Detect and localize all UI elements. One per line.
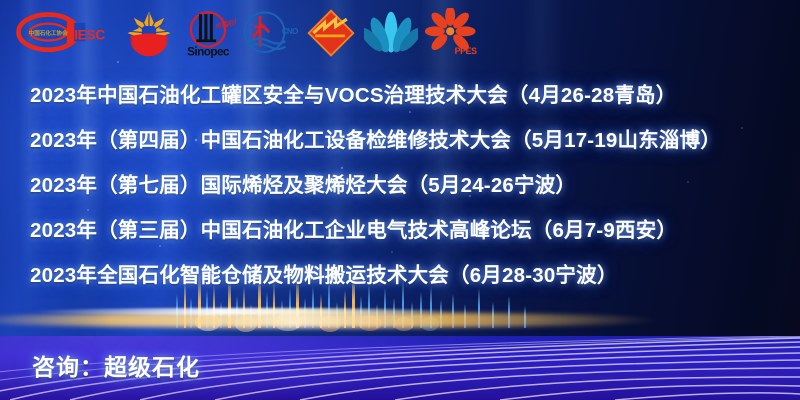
- cnooc-logo: CNOOC: [242, 8, 298, 60]
- horizon-highlight-streak: [30, 308, 450, 315]
- sinopec-logo: 中国石化 Sinopec: [180, 8, 236, 60]
- conference-banner: 中国石化工协会 IESC: [0, 0, 800, 400]
- ppes-logo: PPES: [424, 8, 480, 60]
- svg-text:Sinopec: Sinopec: [187, 46, 230, 59]
- petrochina-logo: [124, 8, 174, 60]
- conference-line-4: 2023年（第三届）中国石油化工企业电气技术高峰论坛（6月7-9西安）: [30, 209, 770, 254]
- contact-caption: 咨询：超级石化: [32, 348, 200, 382]
- svg-text:PPES: PPES: [455, 46, 477, 56]
- conference-line-2: 2023年（第四届）中国石油化工设备检维修技术大会（5月17-19山东淄博）: [30, 119, 770, 164]
- cnbm-petal-logo: [364, 8, 418, 60]
- svg-text:IESC: IESC: [74, 27, 105, 43]
- sponsor-logo-strip: 中国石化工协会 IESC: [10, 6, 430, 62]
- svg-text:中国石化工协会: 中国石化工协会: [29, 29, 68, 37]
- svg-text:中国石化: 中国石化: [215, 16, 236, 30]
- sinochem-logo: [304, 8, 358, 60]
- conference-line-3: 2023年（第七届）国际烯烃及聚烯烃大会（5月24-26宁波）: [30, 164, 770, 209]
- svg-text:CNOOC: CNOOC: [282, 27, 298, 36]
- conference-line-1: 2023年中国石油化工罐区安全与VOCS治理技术大会（4月26-28青岛）: [30, 74, 770, 119]
- cnpc-iesc-logo: 中国石化工协会 IESC: [10, 8, 118, 60]
- conference-line-5: 2023年全国石化智能仓储及物料搬运技术大会（6月28-30宁波）: [30, 254, 770, 299]
- conference-list: 2023年中国石油化工罐区安全与VOCS治理技术大会（4月26-28青岛） 20…: [30, 74, 770, 299]
